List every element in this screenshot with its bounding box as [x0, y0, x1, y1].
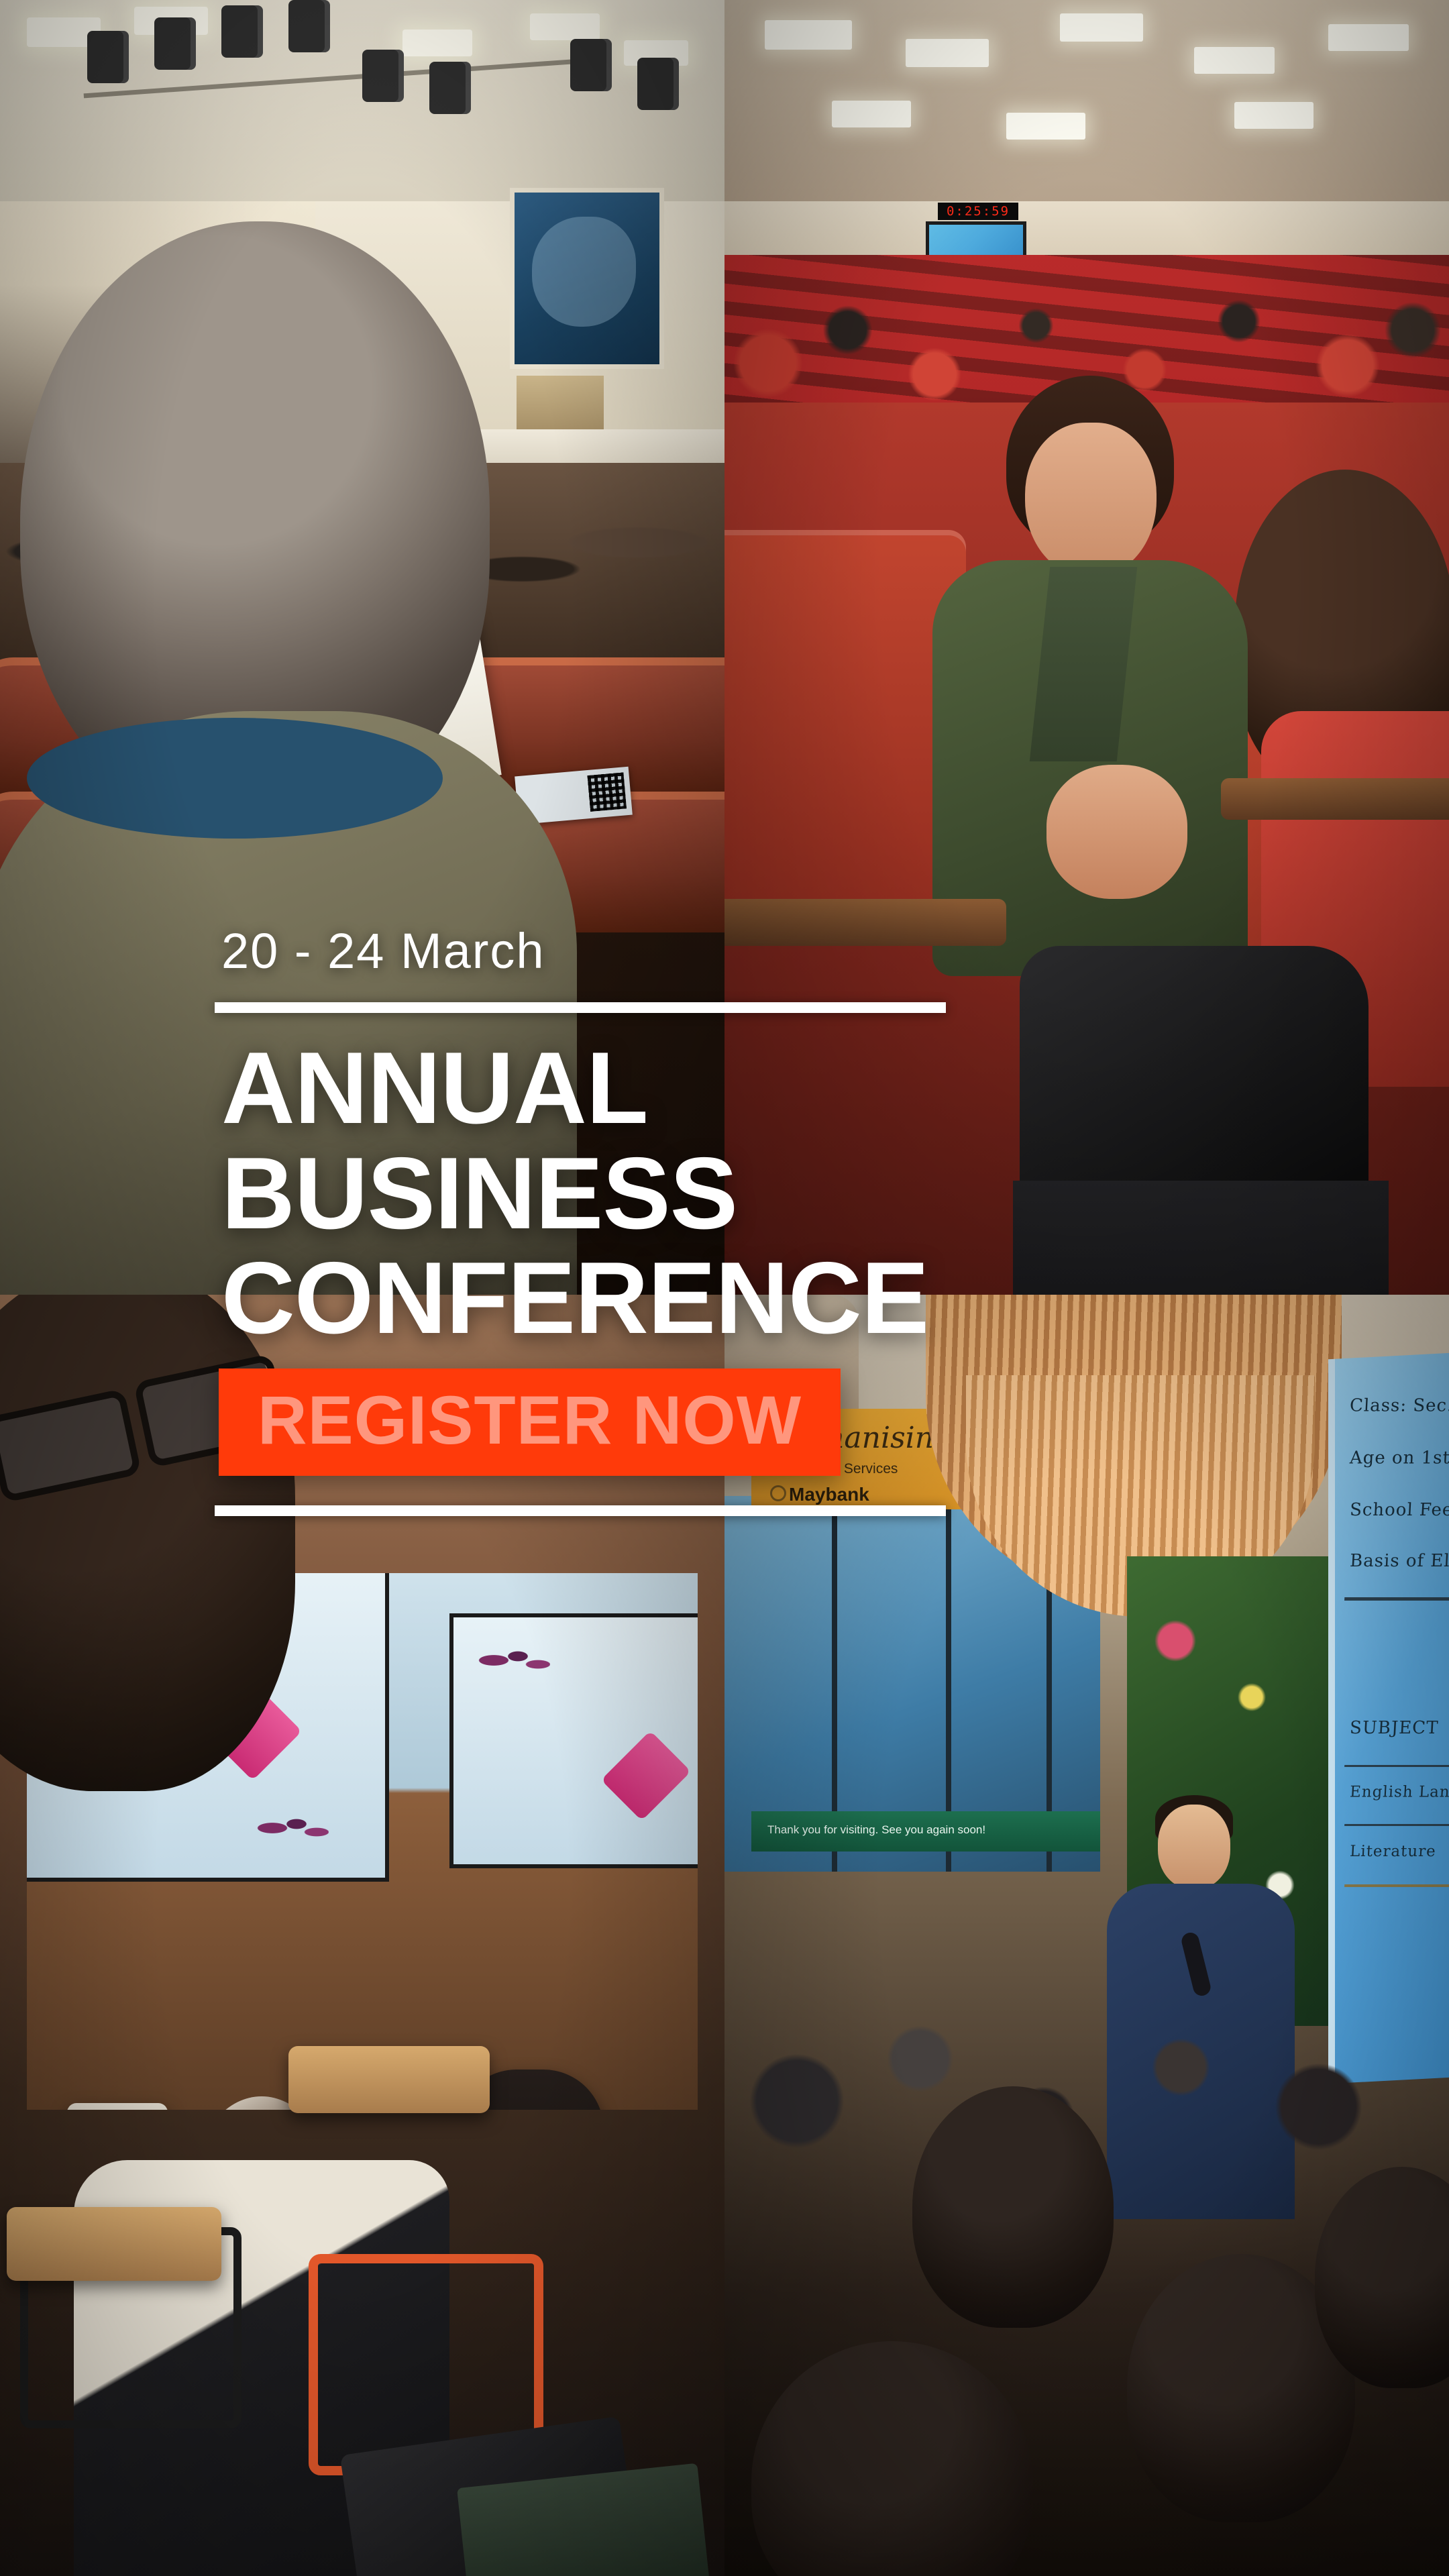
seat-armrest — [1221, 778, 1449, 820]
divider-top — [215, 1002, 946, 1013]
screen-rule — [1344, 1765, 1449, 1767]
foreground-head — [912, 2086, 1114, 2328]
laptop — [67, 2103, 168, 2110]
stage-light — [87, 31, 129, 83]
stage-light — [570, 39, 612, 91]
face — [1025, 423, 1157, 578]
trousers — [1013, 1181, 1389, 1295]
divider-bottom — [215, 1505, 946, 1516]
event-dates: 20 - 24 March — [221, 922, 973, 979]
calligraphy-ornament — [248, 1808, 329, 1848]
countdown-timer-display: 0:25:59 — [938, 203, 1018, 220]
screen-rule — [1344, 1824, 1449, 1826]
register-now-button[interactable]: REGISTER NOW — [219, 1368, 841, 1476]
title-line-2: BUSINESS — [221, 1141, 973, 1246]
storefront-banner-text: Thank you for visiting. See you again so… — [767, 1823, 985, 1837]
screen-rule — [1344, 1884, 1449, 1887]
screen-line: School Fees — [1349, 1500, 1449, 1520]
ceiling-light — [1194, 47, 1275, 74]
screen-line: English Language — [1349, 1784, 1449, 1801]
ceiling-light — [1234, 102, 1313, 129]
stage-light — [154, 17, 196, 70]
stage-light — [429, 62, 471, 114]
clapping-hands — [1046, 765, 1187, 899]
poster-title: ANNUAL BUSINESS CONFERENCE — [221, 1036, 973, 1351]
ceiling-light — [1328, 24, 1409, 51]
stage-light — [637, 58, 679, 110]
ceiling-light — [832, 101, 911, 127]
screen-line: Class: Sec. — [1349, 1396, 1449, 1416]
screen-line: Literature — [1349, 1843, 1436, 1860]
stage-light — [221, 5, 263, 58]
ceiling-light — [765, 20, 852, 50]
stage-light — [362, 50, 404, 102]
screen-line: Age on 1st — [1349, 1448, 1449, 1468]
title-line-3: CONFERENCE — [221, 1246, 973, 1351]
conference-poster: 0:25:59 — [0, 0, 1449, 2576]
screen-line: Basis of Eligibility — [1349, 1551, 1449, 1571]
chair-seat — [288, 2046, 490, 2113]
screen-line: SUBJECT — [1349, 1718, 1439, 1738]
chair-seat — [7, 2207, 221, 2281]
ceiling-light — [1006, 113, 1085, 140]
shirt-collar — [27, 718, 443, 839]
foreground-head — [751, 2341, 1033, 2576]
ceiling-light — [906, 39, 989, 67]
world-map-banner — [510, 188, 664, 369]
ceiling-light — [1060, 13, 1143, 42]
stage-light — [288, 0, 330, 52]
screen-rule — [1344, 1597, 1449, 1601]
calligraphy-ornament — [470, 1640, 550, 1680]
face — [1158, 1805, 1230, 1889]
title-line-1: ANNUAL — [221, 1036, 973, 1141]
poster-text-overlay: 20 - 24 March ANNUAL BUSINESS CONFERENCE… — [0, 922, 973, 1516]
